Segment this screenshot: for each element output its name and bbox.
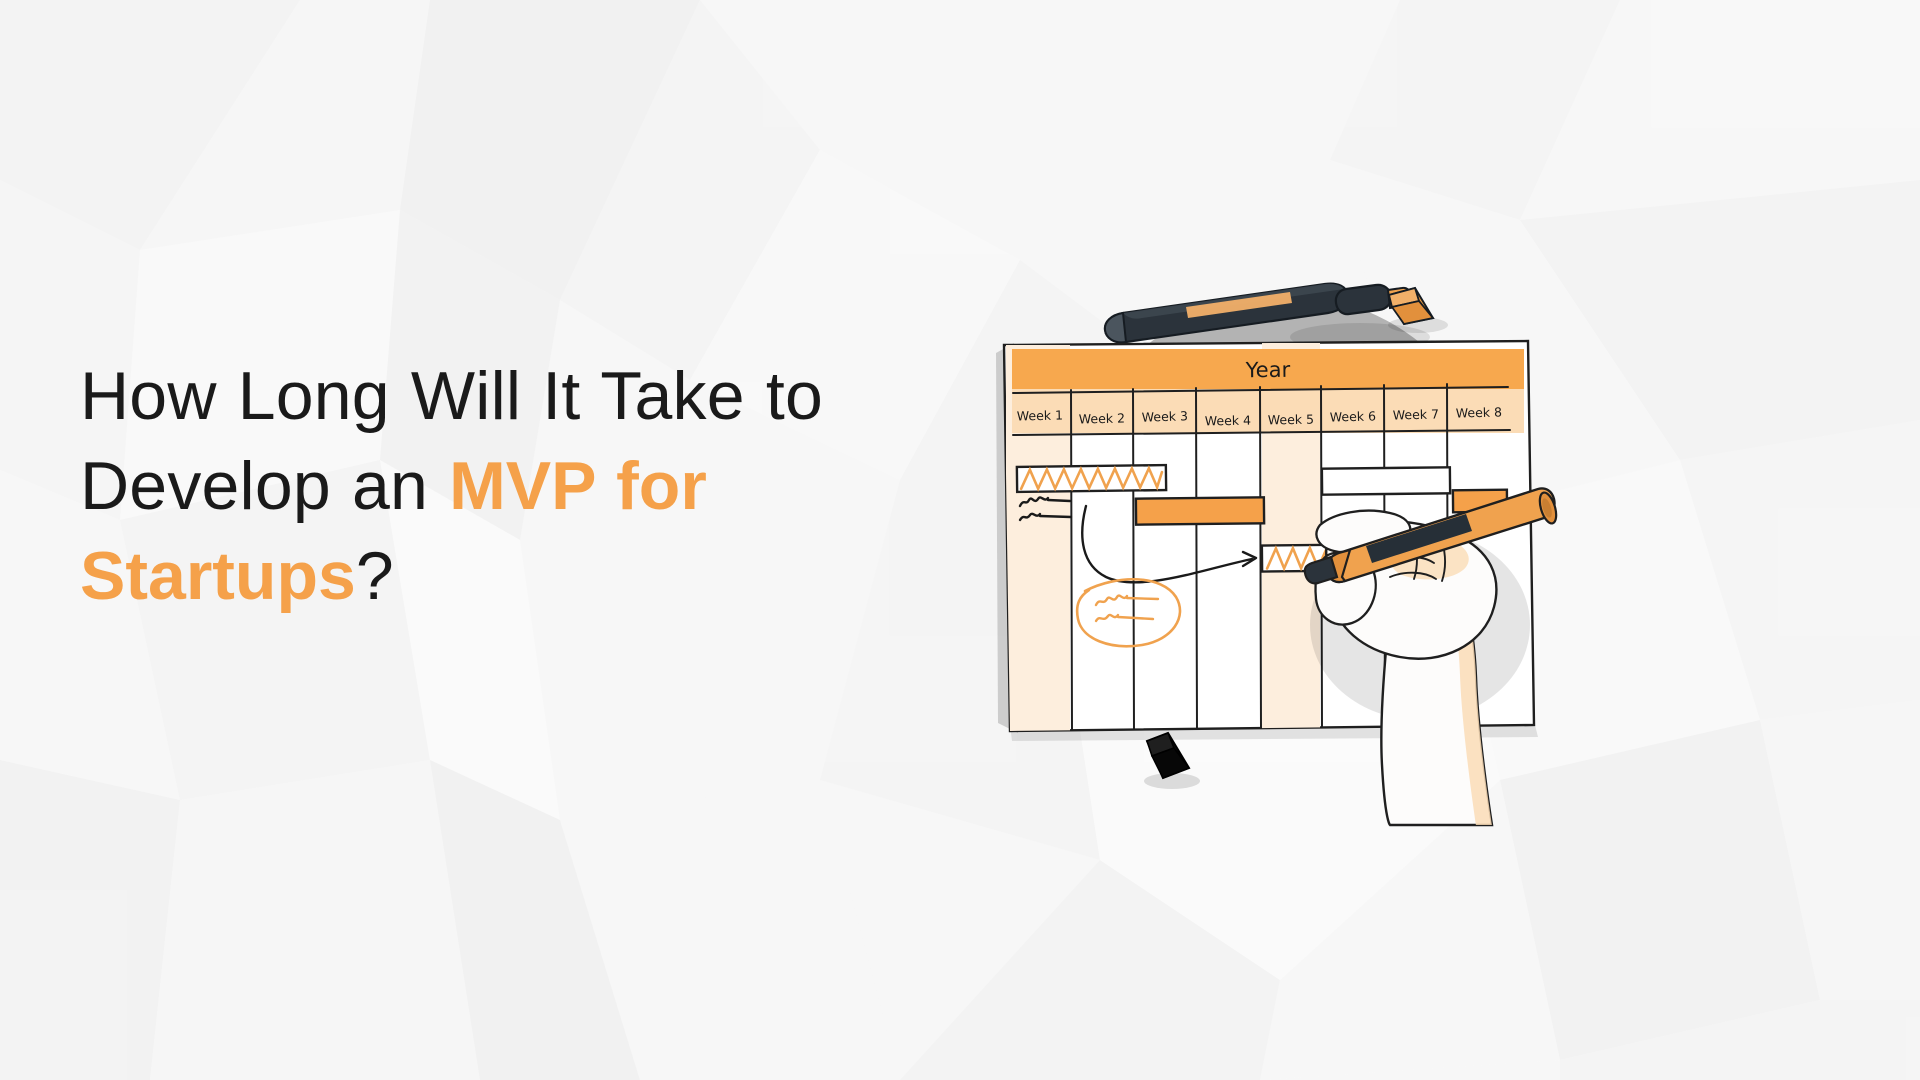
headline-line-1: How Long Will It Take to [80, 358, 823, 434]
task-bar-1 [1017, 465, 1166, 492]
chart-x-tick-week-7: Week 7 [1393, 406, 1440, 422]
headline-block: How Long Will It Take to Develop an MVP … [80, 352, 980, 621]
headline-line-3-accent: Startups [80, 538, 356, 614]
task-bar-2 [1136, 497, 1264, 524]
hero-illustration: Year Week 1 Week 2 Week 3 Week 4 Week 5 … [990, 225, 1570, 825]
chart-x-tick-week-2: Week 2 [1079, 411, 1125, 427]
chart-x-tick-week-5: Week 5 [1268, 412, 1314, 428]
task-bar-3 [1322, 467, 1450, 494]
banner-root: How Long Will It Take to Develop an MVP … [0, 0, 1920, 1080]
chart-title: Year [1245, 358, 1291, 382]
headline-line-2-accent: MVP for [449, 448, 707, 524]
chart-x-tick-week-4: Week 4 [1205, 413, 1251, 429]
headline-line-2-plain: Develop an [80, 448, 449, 524]
chart-x-tick-week-3: Week 3 [1142, 408, 1189, 425]
chart-x-tick-week-6: Week 6 [1330, 408, 1377, 424]
chart-x-tick-week-1: Week 1 [1017, 408, 1063, 424]
page-title: How Long Will It Take to Develop an MVP … [80, 352, 980, 621]
gantt-illustration-svg: Year Week 1 Week 2 Week 3 Week 4 Week 5 … [990, 225, 1570, 825]
chart-x-tick-week-8: Week 8 [1456, 404, 1503, 420]
orange-marker-cap [1388, 288, 1448, 333]
headline-question-mark: ? [356, 538, 394, 614]
black-marker-cap [1144, 733, 1200, 789]
